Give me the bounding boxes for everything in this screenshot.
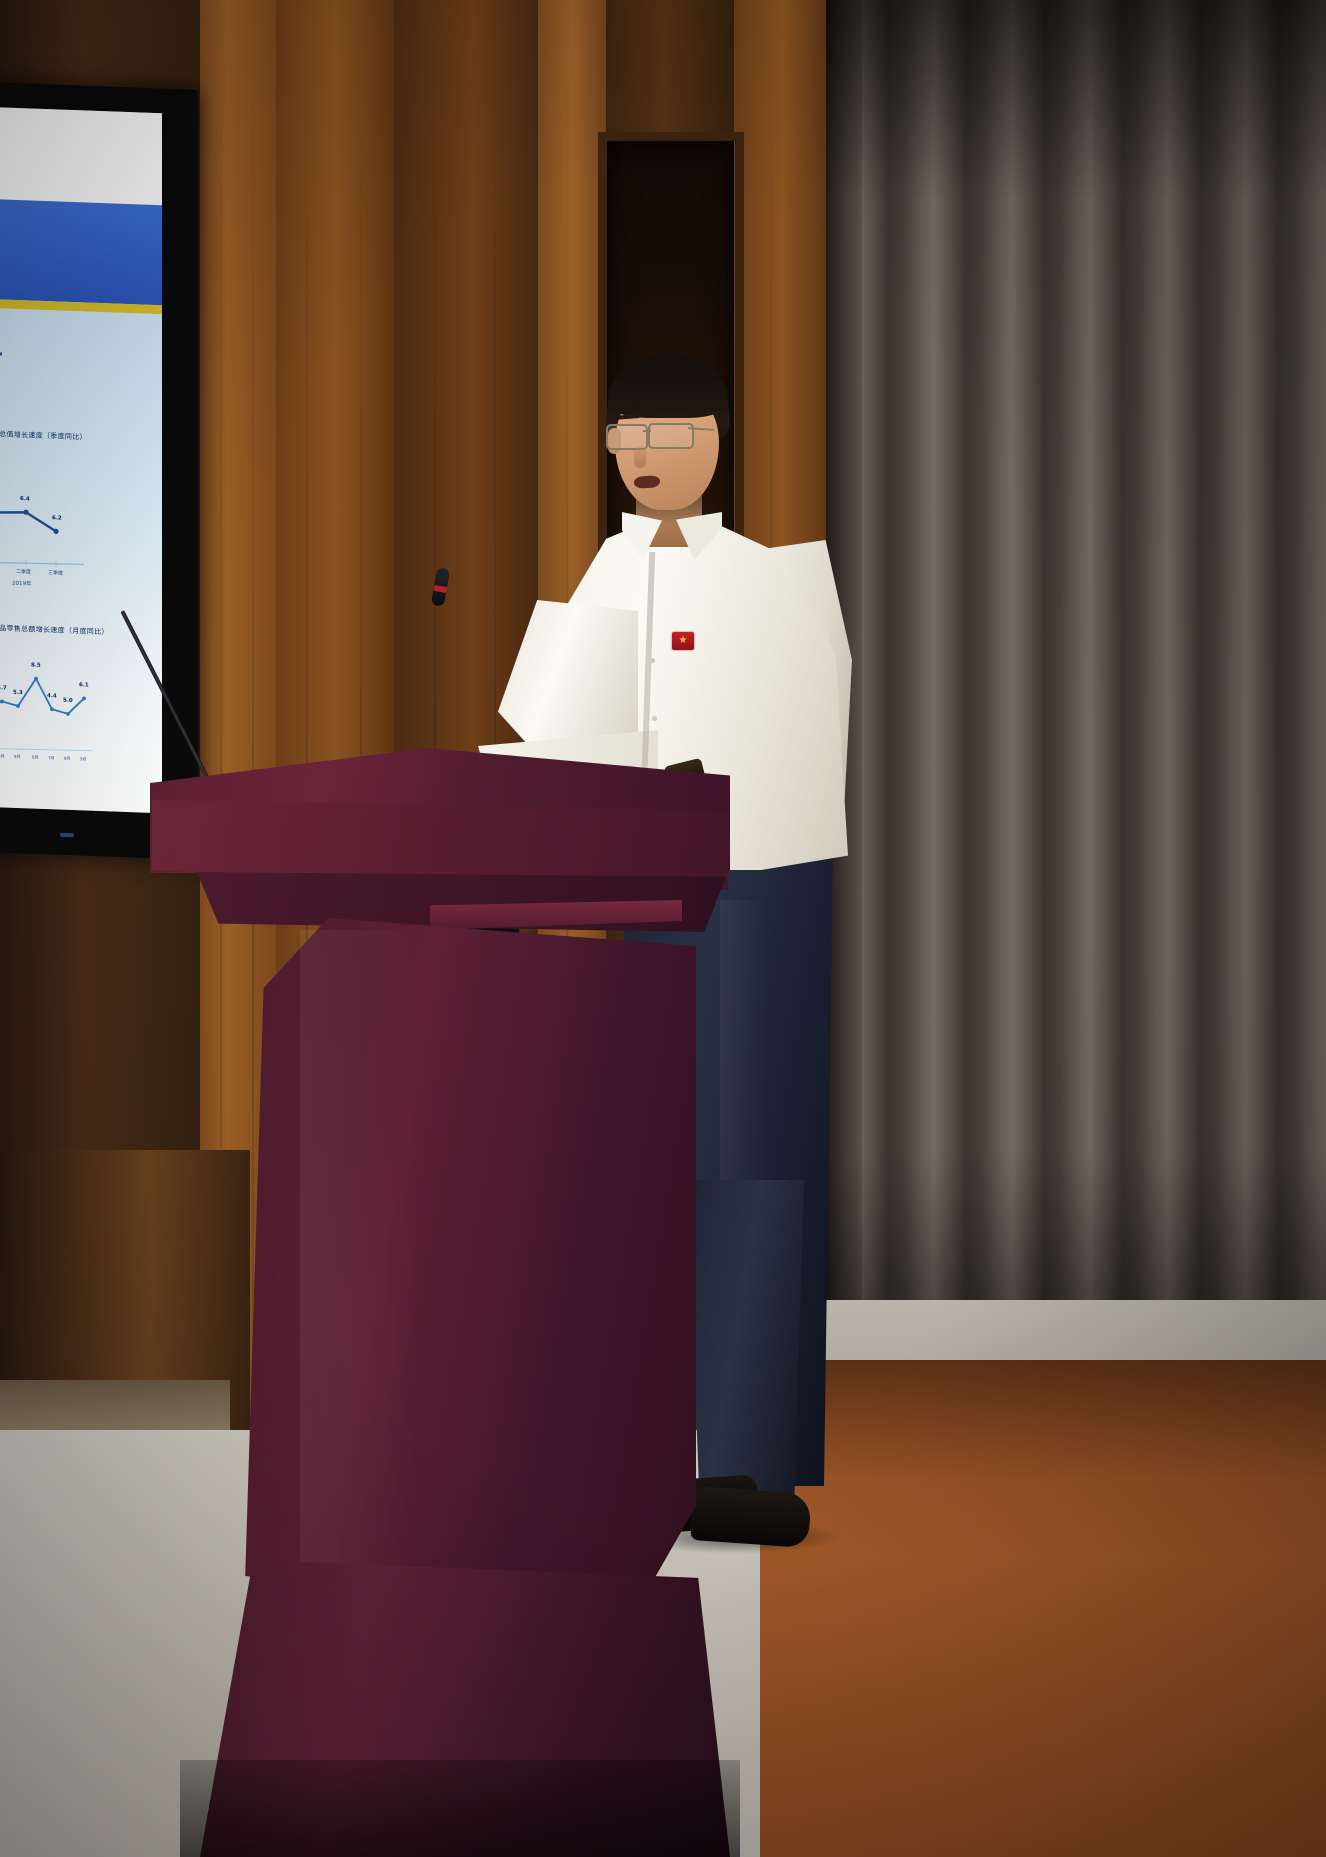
scene-root: 国内生产总值增长速度（季度同比） 6.4 6.4 6.2 一季度 二季度 三季 bbox=[0, 0, 1326, 1857]
trouser-leg-right bbox=[680, 1180, 804, 1510]
shirt-button bbox=[652, 716, 657, 721]
lectern-column-highlight bbox=[300, 930, 420, 1590]
lectern-base-shadow bbox=[180, 1760, 740, 1857]
shoe-right bbox=[690, 1486, 811, 1548]
nose bbox=[634, 446, 646, 468]
hair-fringe bbox=[608, 356, 728, 418]
eyeglasses-bridge bbox=[643, 430, 651, 432]
shirt-button bbox=[650, 658, 655, 663]
party-emblem-glyph: ★ bbox=[675, 635, 691, 647]
shirt-button bbox=[648, 600, 653, 605]
